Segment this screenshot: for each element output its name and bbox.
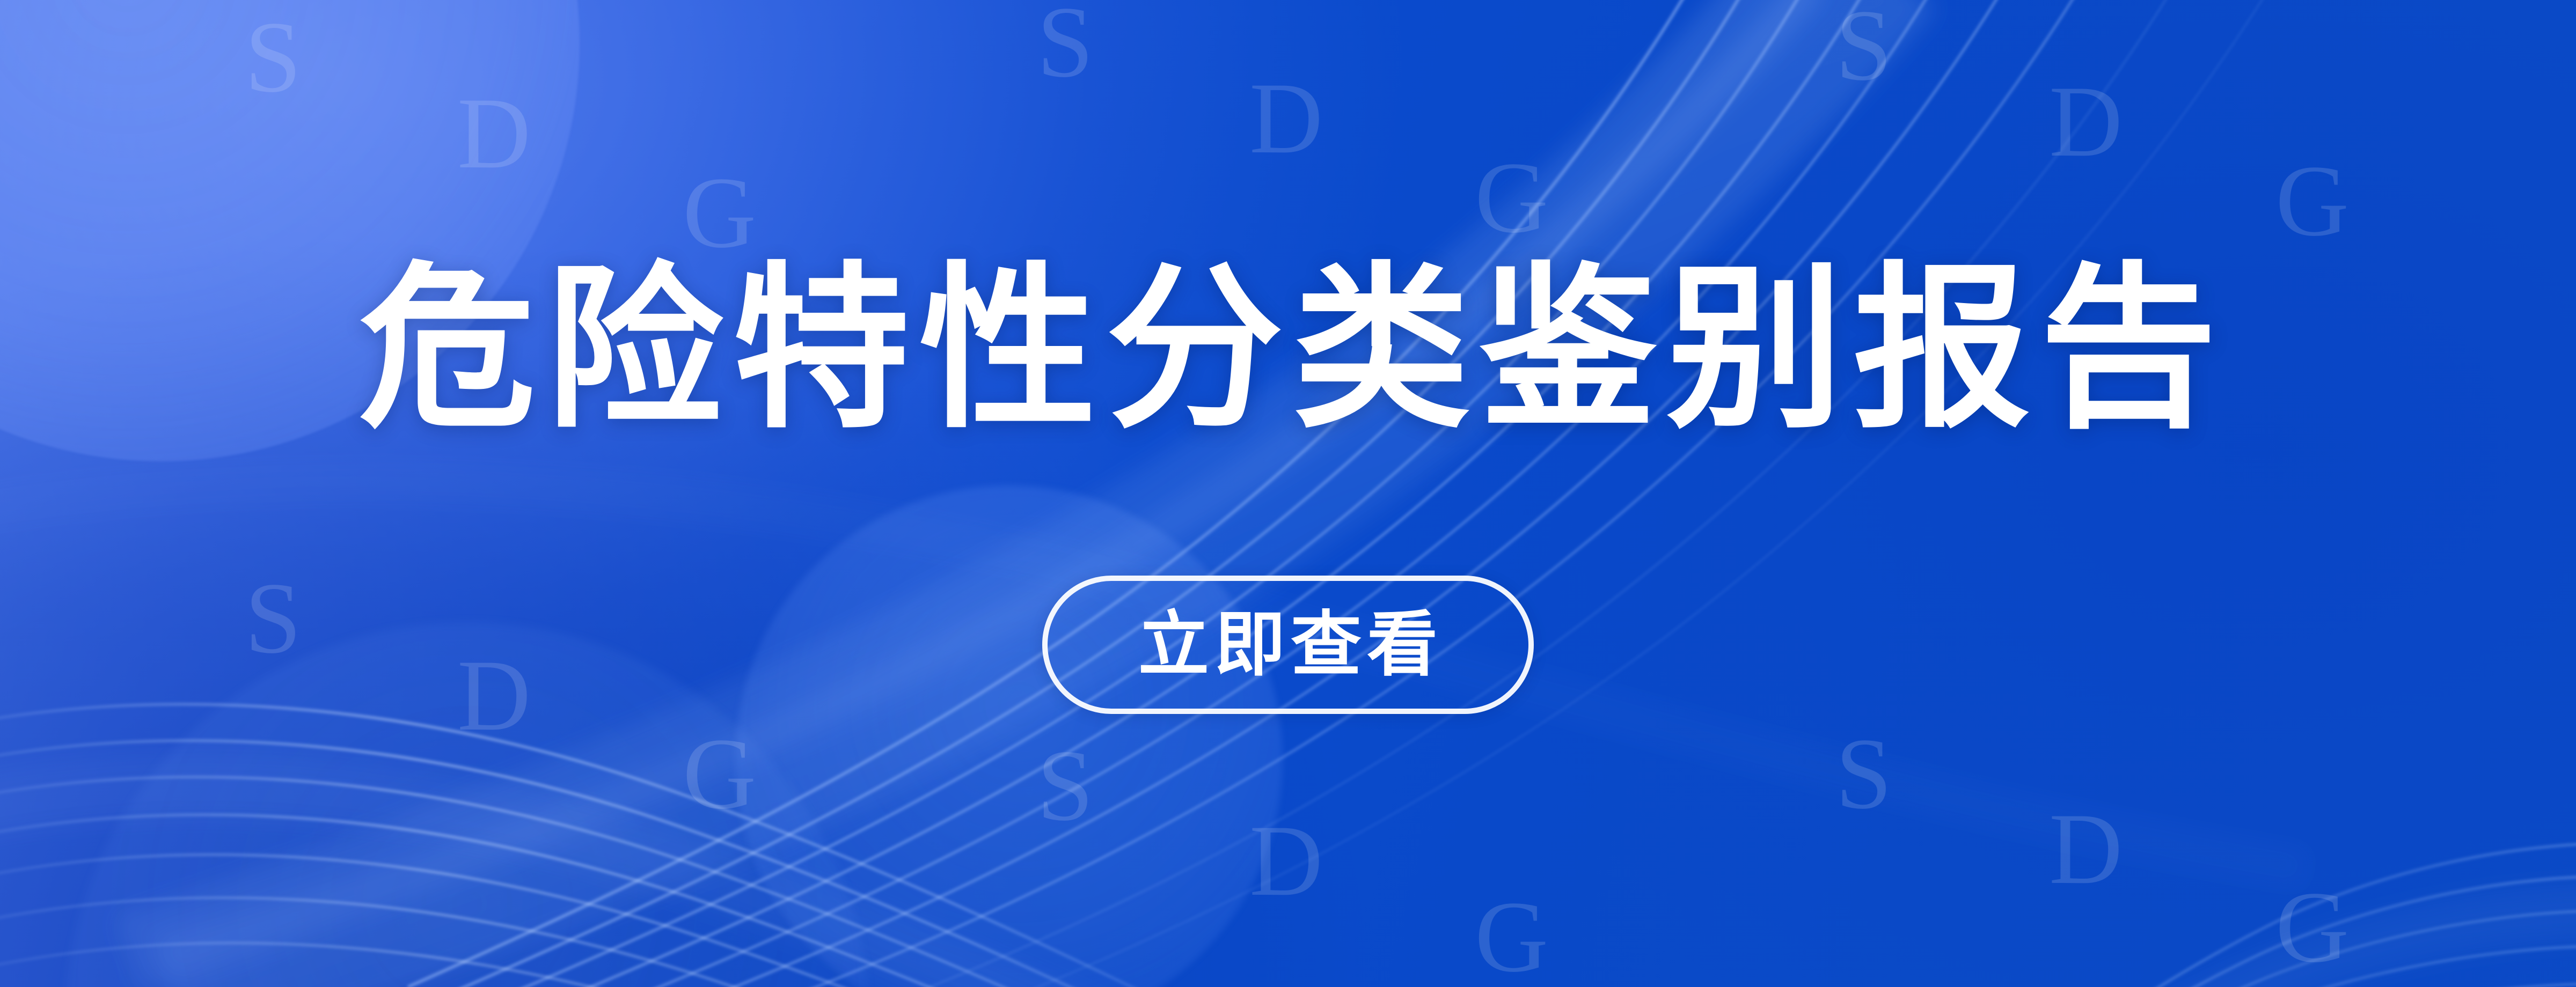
- promo-banner: SDGSDGSDGSDGSDGSDG 危险特性分类鉴别报告 立即查看: [0, 0, 2576, 987]
- cta-container: 立即查看: [0, 576, 2576, 714]
- banner-content: 危险特性分类鉴别报告 立即查看: [0, 0, 2576, 987]
- view-now-button-label: 立即查看: [1133, 609, 1443, 680]
- banner-title: 危险特性分类鉴别报告: [0, 261, 2576, 438]
- view-now-button[interactable]: 立即查看: [1042, 576, 1534, 714]
